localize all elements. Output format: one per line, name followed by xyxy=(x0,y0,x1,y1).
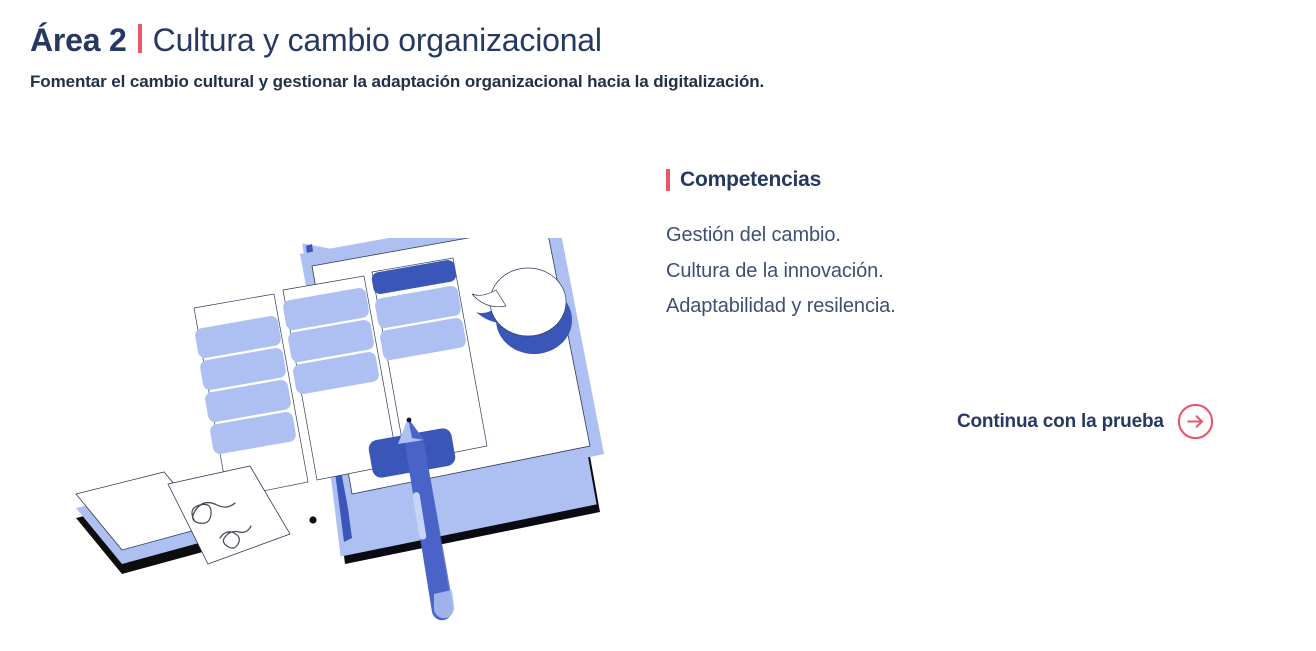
continue-test-link[interactable]: Continua con la prueba xyxy=(957,403,1214,440)
list-item: Gestión del cambio. xyxy=(666,218,1286,254)
list-item: Adaptabilidad y resilencia. xyxy=(666,289,1286,325)
title-text: Cultura y cambio organizacional xyxy=(153,24,602,58)
page-title: Área 2 Cultura y cambio organizacional xyxy=(30,22,1290,58)
competencies-list: Gestión del cambio. Cultura de la innova… xyxy=(666,218,1286,325)
competencies-heading: Competencias xyxy=(666,168,1286,192)
page-header: Área 2 Cultura y cambio organizacional F… xyxy=(30,22,1290,93)
page-subtitle: Fomentar el cambio cultural y gestionar … xyxy=(30,71,1290,93)
area-label: Área 2 xyxy=(30,24,127,58)
tablet-kanban-board-illustration xyxy=(60,238,630,634)
kanban-board xyxy=(194,258,487,498)
title-separator-bar xyxy=(138,24,142,53)
list-item: Cultura de la innovación. xyxy=(666,254,1286,290)
competencies-panel: Competencias Gestión del cambio. Cultura… xyxy=(666,168,1286,325)
page-root: Área 2 Cultura y cambio organizacional F… xyxy=(0,0,1316,651)
continue-test-label: Continua con la prueba xyxy=(957,411,1164,433)
heading-accent-bar xyxy=(666,169,670,191)
arrow-right-circle-icon[interactable] xyxy=(1177,403,1214,440)
competencies-heading-label: Competencias xyxy=(680,168,821,192)
